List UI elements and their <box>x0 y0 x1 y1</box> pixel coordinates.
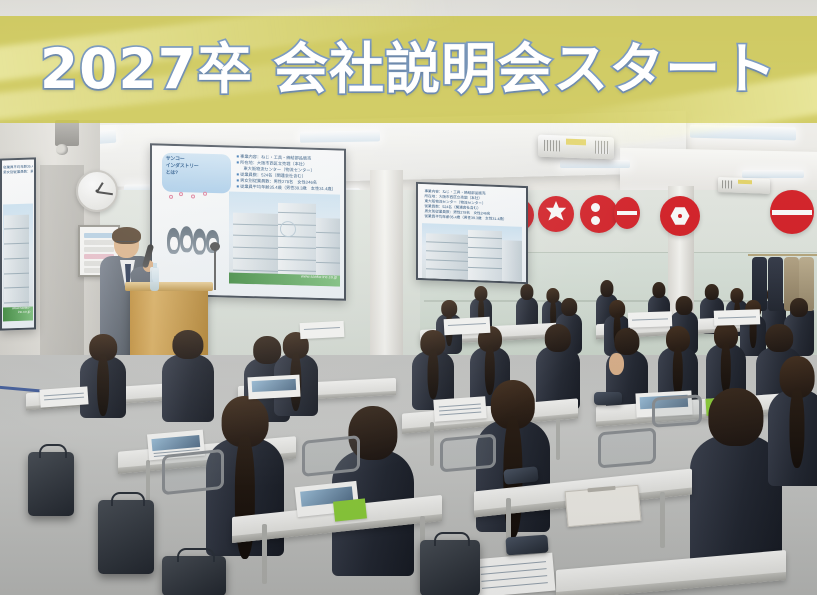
projection-screen-left: 従業員平均年齢35.4歳（男性39.3歳 女性31.4歳） 男女別従業員数：男性… <box>0 157 36 330</box>
slide-title-badge: サンコー インダストリー とは? <box>162 153 231 193</box>
wall-art-two-hole-icon <box>580 195 618 233</box>
chair-back <box>652 394 702 427</box>
slide-url-label: www.sanko-inc.co.jp <box>229 273 340 287</box>
briefcase <box>28 452 74 516</box>
projection-screen-right: 事業内容：ねじ・工具・締結部品販売 所在地：大阪市西区立売堀（本社） 東大阪物流… <box>416 182 528 284</box>
desk-leg <box>660 492 665 548</box>
desk-leg <box>556 418 560 460</box>
handout <box>300 321 345 339</box>
pencil-pouch <box>594 392 622 405</box>
handout <box>714 309 760 326</box>
clipboard <box>565 485 642 527</box>
desk-leg <box>262 524 267 584</box>
chair-back <box>302 435 360 477</box>
chair-back <box>162 449 224 496</box>
security-camera <box>56 144 68 155</box>
projection-screen-main: サンコー インダストリー とは? ■ 事業内容：ねじ・工具・締結部品販売 ■ 所… <box>150 143 346 300</box>
ceiling-light-panel <box>560 160 630 168</box>
wall-clock <box>76 170 118 212</box>
handout <box>39 386 88 407</box>
wall-art-slot-icon <box>614 197 640 229</box>
screenshot-root: サンコー インダストリー とは? ■ 事業内容：ねじ・工具・締結部品販売 ■ 所… <box>0 0 817 595</box>
podium-top <box>125 282 213 291</box>
wall-art-bar-icon <box>770 190 814 234</box>
water-bottle <box>150 267 159 291</box>
chair-back <box>440 434 496 473</box>
ceiling-light-panel <box>300 130 380 142</box>
handout <box>444 317 491 335</box>
attendee <box>80 334 126 418</box>
clock-center <box>96 190 99 193</box>
coat <box>768 257 783 311</box>
pencil-pouch <box>505 535 548 556</box>
presenter-glasses <box>116 241 137 246</box>
desk-leg <box>430 422 434 466</box>
slide-building-photo: www.sanko-inc.co.jp <box>229 192 340 287</box>
chair-back <box>598 427 656 468</box>
briefcase <box>420 540 480 595</box>
clock-minute-hand <box>97 191 113 195</box>
attendee <box>768 356 817 486</box>
wall-art-hex-icon <box>660 196 700 236</box>
title-banner: 2027卒 会社説明会スタート <box>0 16 817 123</box>
briefcase <box>98 500 154 574</box>
green-notepad <box>333 498 367 521</box>
banner-title-text: 2027卒 会社説明会スタート <box>40 42 777 97</box>
handout <box>247 375 300 400</box>
ceiling-speaker <box>55 120 79 146</box>
wall-art-star-icon <box>538 196 574 232</box>
slide-url-label: www.sanko-inc.co.jp <box>3 307 34 322</box>
briefcase <box>162 556 226 595</box>
microphone-stand <box>214 248 216 290</box>
handout <box>628 311 672 328</box>
ceiling-light-panel <box>742 170 804 178</box>
ceiling-projector <box>718 177 770 194</box>
handout <box>472 553 555 595</box>
